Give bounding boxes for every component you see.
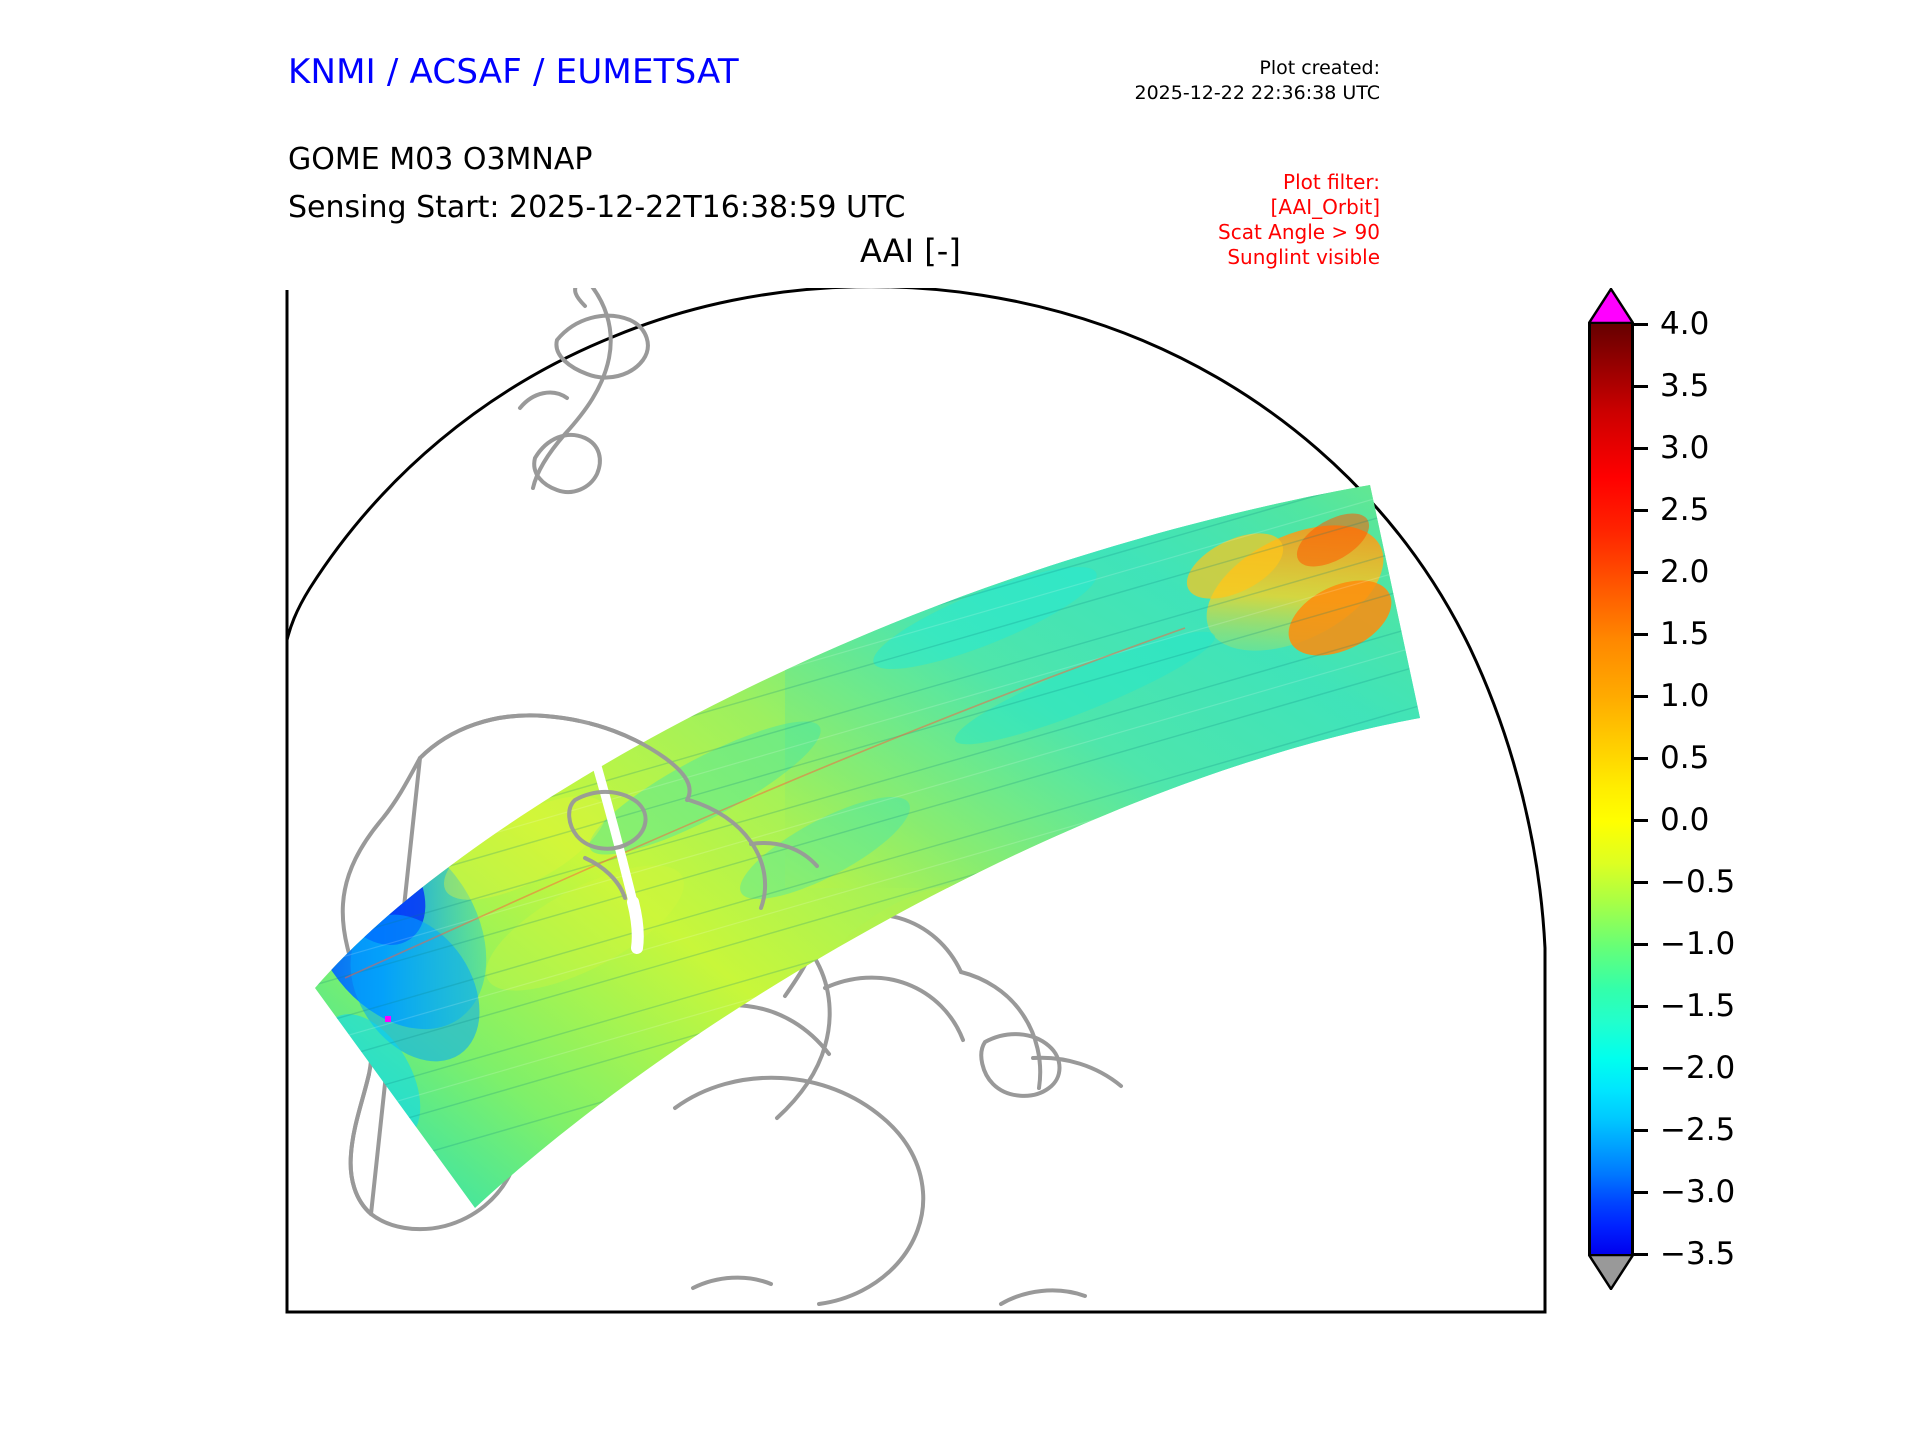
- colorbar-tick: [1634, 323, 1648, 326]
- sensing-start-label: Sensing Start: 2025-12-22T16:38:59 UTC: [288, 190, 905, 225]
- plot-filter-name: [AAI_Orbit]: [1218, 195, 1380, 220]
- plot-created-block: Plot created: 2025-12-22 22:36:38 UTC: [1135, 56, 1381, 106]
- colorbar-tick: [1634, 385, 1648, 388]
- map-canvas: [285, 288, 1547, 1314]
- colorbar-tick-label: −1.5: [1660, 988, 1735, 1024]
- organisation-title: KNMI / ACSAF / EUMETSAT: [288, 52, 739, 92]
- colorbar-tick-label: 2.0: [1660, 554, 1709, 590]
- colorbar-tick-label: 1.0: [1660, 678, 1709, 714]
- colorbar-tick: [1634, 633, 1648, 636]
- plot-filter-label: Plot filter:: [1218, 170, 1380, 195]
- plot-filter-block: Plot filter: [AAI_Orbit] Scat Angle > 90…: [1218, 170, 1380, 270]
- colorbar-tick: [1634, 1005, 1648, 1008]
- colorbar-tick: [1634, 695, 1648, 698]
- colorbar-tick-label: 0.5: [1660, 740, 1709, 776]
- colorbar-tick: [1634, 571, 1648, 574]
- colorbar-tick-label: −3.5: [1660, 1236, 1735, 1272]
- colorbar-tick-label: −1.0: [1660, 926, 1735, 962]
- colorbar-tick: [1634, 1067, 1648, 1070]
- colorbar-tick-label: 4.0: [1660, 306, 1709, 342]
- colorbar-tick-label: 1.5: [1660, 616, 1709, 652]
- colorbar-tick: [1634, 447, 1648, 450]
- plot-filter-condition: Scat Angle > 90: [1218, 220, 1380, 245]
- plot-created-label: Plot created:: [1135, 56, 1381, 81]
- colorbar-tick-label: −2.0: [1660, 1050, 1735, 1086]
- colorbar-tick: [1634, 1129, 1648, 1132]
- colorbar-tick-label: 2.5: [1660, 492, 1709, 528]
- colorbar-tick-label: 3.0: [1660, 430, 1709, 466]
- plot-created-timestamp: 2025-12-22 22:36:38 UTC: [1135, 81, 1381, 106]
- colorbar-tick: [1634, 1253, 1648, 1256]
- map-plot-area[interactable]: [285, 288, 1547, 1314]
- colorbar-tick: [1634, 509, 1648, 512]
- colorbar-tick-label: −3.0: [1660, 1174, 1735, 1210]
- colorbar[interactable]: 4.03.53.02.52.01.51.00.50.0−0.5−1.0−1.5−…: [1588, 288, 1888, 1314]
- colorbar-tick-label: 0.0: [1660, 802, 1709, 838]
- colorbar-tick: [1634, 757, 1648, 760]
- swath-data-gap-2: [633, 902, 638, 948]
- product-title: GOME M03 O3MNAP: [288, 142, 592, 177]
- colorbar-tick-label: −2.5: [1660, 1112, 1735, 1148]
- colorbar-gradient: [1588, 324, 1634, 1254]
- colorbar-over-arrow: [1588, 288, 1634, 324]
- colorbar-tick: [1634, 819, 1648, 822]
- colorbar-tick: [1634, 943, 1648, 946]
- colorbar-tick: [1634, 1191, 1648, 1194]
- plot-filter-note: Sunglint visible: [1218, 245, 1380, 270]
- colorbar-tick-label: −0.5: [1660, 864, 1735, 900]
- colorbar-under-arrow: [1588, 1254, 1634, 1290]
- plot-variable-title: AAI [-]: [860, 232, 961, 270]
- colorbar-tick-label: 3.5: [1660, 368, 1709, 404]
- colorbar-tick: [1634, 881, 1648, 884]
